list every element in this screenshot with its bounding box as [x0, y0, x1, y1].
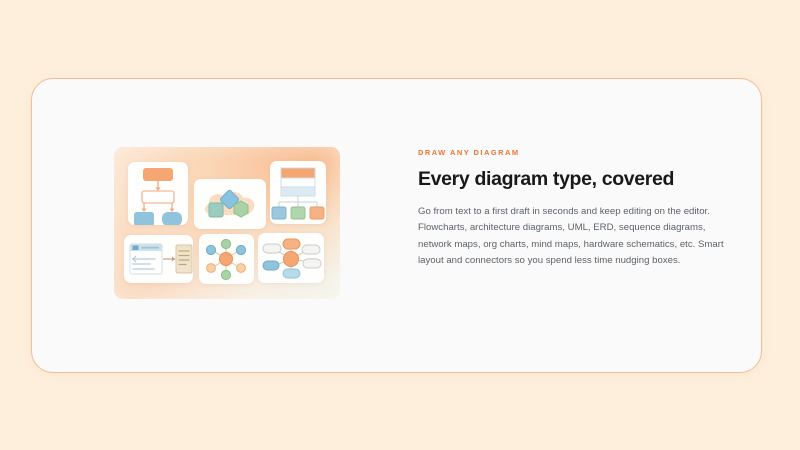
illustration-card-flowchart: [128, 162, 188, 225]
illustration-card-network-map: [199, 234, 254, 284]
feature-card: DRAW ANY DIAGRAM Every diagram type, cov…: [31, 78, 762, 373]
body-paragraph: Go from text to a first draft in seconds…: [418, 204, 734, 270]
screenshot-stage: DRAW ANY DIAGRAM Every diagram type, cov…: [0, 0, 800, 450]
illustration-card-cloud-architecture: [194, 179, 266, 229]
diagram-gallery-illustration: [114, 147, 340, 299]
feature-text-column: DRAW ANY DIAGRAM Every diagram type, cov…: [418, 149, 734, 270]
eyebrow-label: DRAW ANY DIAGRAM: [418, 149, 734, 157]
illustration-card-mind-map: [258, 233, 324, 283]
illustration-card-org-chart: [270, 161, 326, 224]
page-title: Every diagram type, covered: [418, 168, 734, 191]
illustration-card-text-to-diagram: [124, 235, 193, 283]
